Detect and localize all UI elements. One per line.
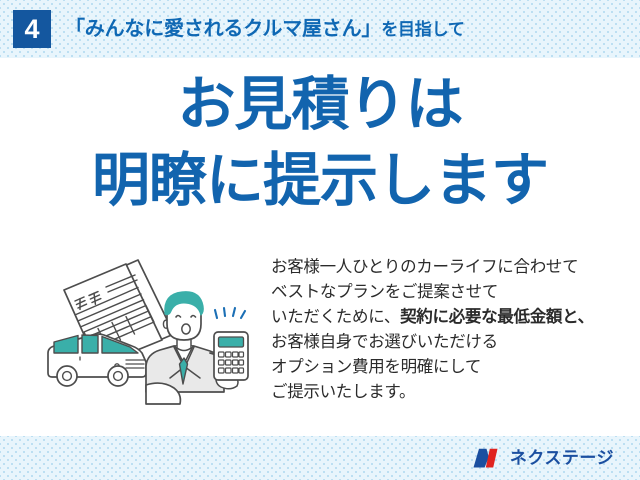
footer-band: ネクステージ [0,436,640,480]
body-copy-line-3: いただくために、契約に必要な最低金額と、 [271,305,621,330]
calculator [214,332,248,380]
body-copy-line-1: お客様一人ひとりのカーライフに合わせて [271,255,621,280]
nextage-n-logo-icon [472,448,502,469]
brand-logo-text: ネクステージ [510,450,614,467]
promo-slide: 4 「みんなに愛されるクルマ屋さん」を目指して お見積りは 明瞭に提示します お… [0,0,640,480]
body-copy-line-3-prefix: いただくために、 [271,308,400,326]
body-copy-line-3-emphasis: 契約に必要な最低金額と、 [400,308,594,326]
body-copy-line-2: ベストなプランをご提案させて [271,280,621,305]
body-copy-line-4: お客様自身でお選びいただける [271,330,621,355]
headline: お見積りは 明瞭に提示します [0,76,640,210]
header-band: 4 「みんなに愛されるクルマ屋さん」を目指して [0,0,640,58]
header-title-bracketed: 「みんなに愛されるクルマ屋さん」 [65,18,381,40]
header-content: 4 「みんなに愛されるクルマ屋さん」を目指して [0,0,640,58]
headline-line-1: お見積りは [0,76,640,134]
body-copy-line-5: オプション費用を明確にして [271,355,621,380]
sparkle-lines [215,308,245,318]
body-copy: お客様一人ひとりのカーライフに合わせて ベストなプランをご提案させて いただくた… [271,255,621,405]
body-copy-line-6: ご提示いたします。 [271,380,621,405]
step-number-badge: 4 [13,10,51,48]
headline-line-2: 明瞭に提示します [0,152,640,210]
brand-logo: ネクステージ [472,448,614,469]
header-title-suffix: を目指して [381,20,465,39]
illustration-estimate-sheet-van-salesman [34,254,266,412]
header-title: 「みんなに愛されるクルマ屋さん」を目指して [65,19,465,39]
illustration-svg [34,254,266,412]
calculator-keys [219,352,244,373]
